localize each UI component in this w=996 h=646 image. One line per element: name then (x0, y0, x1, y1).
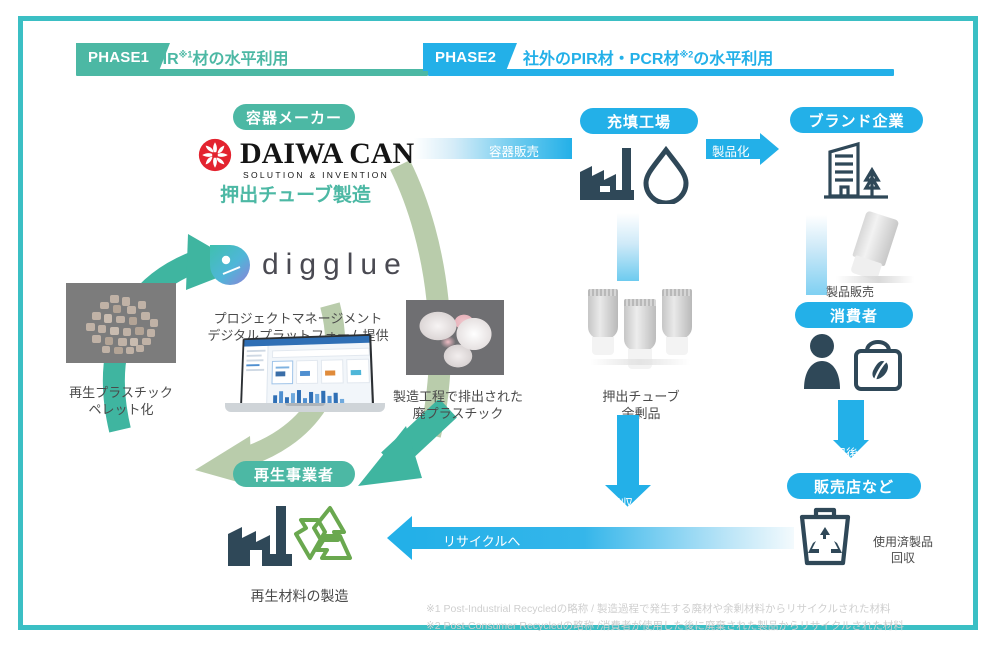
flow-after-use-bar (838, 400, 864, 440)
flow-collection-bar (617, 415, 639, 485)
phase1-title-sup: ※1 (179, 50, 193, 60)
phase2-title-pre: 社外のPIR材・PCR材 (523, 51, 679, 68)
flow-container-sales-label: 容器販売 (489, 141, 539, 160)
flow-productization-arrowhead (760, 133, 779, 165)
retailer-caption: 使用済製品 回収 (848, 518, 958, 567)
phase2-title-post: の水平利用 (693, 51, 773, 68)
pill-consumer: 消費者 (795, 302, 913, 328)
recycled-plastic-pellets-photo (66, 283, 176, 363)
infographic-canvas: PHASE1 PIR※1材の水平利用 PHASE2 社外のPIR材・PCR材※2… (0, 0, 996, 646)
waste-plastic-photo (406, 300, 504, 375)
pill-recycler-label: 再生事業者 (254, 464, 334, 485)
pill-brand-company: ブランド企業 (790, 107, 923, 133)
office-building-icon (822, 140, 896, 202)
daiwa-flower-icon (198, 138, 232, 172)
waste-plastic-caption: 製造工程で排出された 廃プラスチック (388, 370, 528, 423)
daiwa-can-tagline: SOLUTION & INVENTION (243, 170, 389, 180)
daiwa-can-wordmark: DAIWA CAN (240, 137, 414, 171)
dashboard-laptop-photo (225, 335, 385, 420)
digglue-wordmark: digglue (262, 248, 408, 282)
phase2-title-sup: ※2 (679, 50, 693, 60)
recycler-caption: 再生材料の製造 (222, 568, 377, 606)
pill-retailer-label: 販売店など (814, 476, 894, 497)
recycle-bin-icon (796, 505, 854, 567)
footnotes: ※1 Post-Industrial Recycledの略称 / 製造過程で発生… (426, 585, 956, 634)
phase2-tab: PHASE2 (423, 43, 506, 71)
phase1-title: PIR※1材の水平利用 (152, 45, 288, 69)
phase1-tag: PHASE1 (88, 49, 149, 66)
flow-productization-label: 製品化 (712, 141, 750, 160)
flow-product-sales-label: 製品販売 (826, 268, 916, 300)
pill-brand-company-label: ブランド企業 (808, 110, 904, 131)
phase2-title: 社外のPIR材・PCR材※2の水平利用 (523, 45, 773, 69)
factory-and-recycle-icon (226, 500, 372, 570)
pill-container-maker-label: 容器メーカー (246, 107, 342, 128)
phase1-title-pre: PIR (152, 51, 179, 68)
flow-to-recycle-arrowhead (387, 516, 412, 560)
pellets-caption: 再生プラスチック ペレット化 (41, 366, 201, 419)
container-maker-caption: 押出チューブ製造 (193, 180, 398, 207)
flow-to-recycle-label: リサイクルへ (443, 531, 520, 550)
pill-recycler: 再生事業者 (233, 461, 355, 487)
flow-tubes-down-bar-top (617, 213, 639, 281)
surplus-tubes-photo (586, 283, 696, 367)
flow-collection-label: 回収 (608, 493, 633, 512)
phase1-title-post: 材の水平利用 (192, 51, 288, 68)
factory-and-droplet-icon (578, 142, 698, 204)
pill-consumer-label: 消費者 (830, 305, 878, 326)
digglue-logo-icon (209, 244, 251, 286)
pill-container-maker: 容器メーカー (233, 104, 355, 130)
pill-retailer: 販売店など (787, 473, 921, 499)
pill-filling-plant-label: 充填工場 (607, 111, 671, 132)
flow-after-use-label: 使用後 (821, 443, 859, 462)
pill-filling-plant: 充填工場 (580, 108, 698, 134)
flow-product-sales-bar (806, 215, 827, 295)
surplus-tubes-caption: 押出チューブ 余剰品 (571, 370, 711, 423)
phase2-tag: PHASE2 (435, 49, 496, 66)
phase1-tab: PHASE1 (76, 43, 159, 71)
person-and-eco-bag-icon (796, 331, 906, 393)
